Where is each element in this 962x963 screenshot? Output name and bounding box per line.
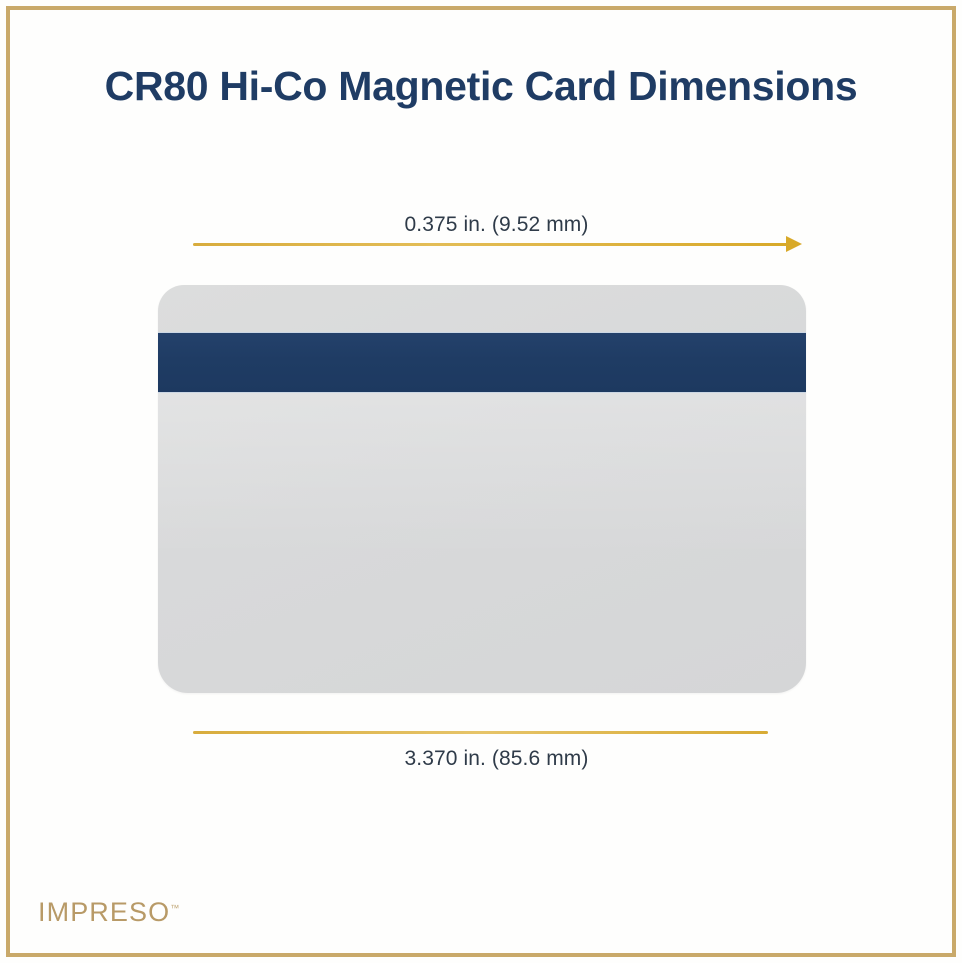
top-dimension-label: 0.375 in. (9.52 mm) [193,213,800,237]
bottom-dimension-label: 3.370 in. (85.6 mm) [193,747,800,771]
page-title: CR80 Hi-Co Magnetic Card Dimensions [0,60,962,112]
brand-logo: IMPRESO™ [38,897,179,928]
brand-logo-text: IMPRESO [38,897,170,927]
trademark-icon: ™ [170,903,179,913]
card-illustration [158,285,806,693]
arrow-right-icon [786,236,802,252]
magnetic-stripe [158,332,806,393]
bottom-dimension-line [193,731,768,734]
infographic-canvas: CR80 Hi-Co Magnetic Card Dimensions 0.37… [0,0,962,963]
card-surface-sheen [158,393,806,693]
top-dimension-line [193,243,790,246]
